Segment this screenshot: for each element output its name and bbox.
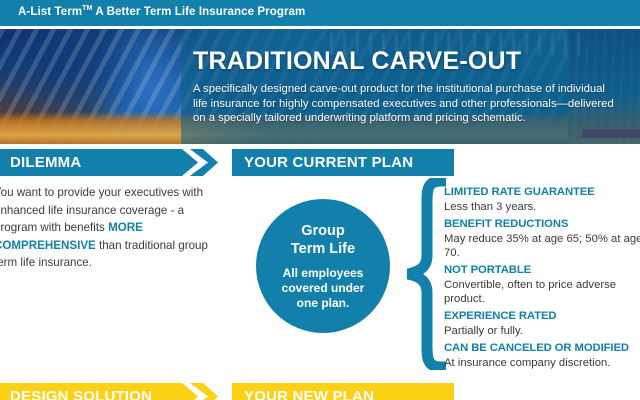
feature-description: May reduce 35% at age 65; 50% at age 70. [444,232,640,261]
group-term-life-circle: Group Term Life All employees covered un… [256,199,390,333]
list-item: BENEFIT REDUCTIONS May reduce 35% at age… [444,217,640,261]
brochure-page: A-List TermTM A Better Term Life Insuran… [0,0,640,400]
brand-bar-text: A-List TermTM A Better Term Life Insuran… [18,5,305,18]
circle-subtitle-line2: covered under [282,281,365,296]
feature-heading: CAN BE CANCELED OR MODIFIED [444,341,640,356]
section-banner-design-solution-label: DESIGN SOLUTION [0,388,152,400]
dilemma-text-before: You want to provide your executives with… [0,186,203,234]
circle-title-line2: Term Life [291,240,355,258]
feature-description: Partially or fully. [444,324,640,339]
brand-title: A-List Term [18,6,82,18]
hero-subtitle: A specifically designed carve-out produc… [193,82,618,126]
section-banner-current-plan-label: YOUR CURRENT PLAN [232,154,413,171]
feature-description: At insurance company discretion. [444,356,640,371]
feature-description: Less than 3 years. [444,200,640,215]
feature-heading: LIMITED RATE GUARANTEE [444,185,640,200]
dilemma-body-text: You want to provide your executives with… [0,184,209,272]
brand-bar: A-List TermTM A Better Term Life Insuran… [0,0,640,26]
list-item: NOT PORTABLE Convertible, often to price… [444,263,640,307]
feature-description: Convertible, often to price adverse prod… [444,278,640,307]
circle-subtitle: All employees covered under one plan. [282,266,365,311]
list-item: LIMITED RATE GUARANTEE Less than 3 years… [444,185,640,215]
section-banner-current-plan: YOUR CURRENT PLAN [232,149,454,176]
section-banner-new-plan: YOUR NEW PLAN [232,383,454,400]
chevron-arrow-icon-yellow [160,383,230,400]
circle-subtitle-line1: All employees [282,266,365,281]
circle-title: Group Term Life [291,222,355,258]
feature-heading: BENEFIT REDUCTIONS [444,217,640,232]
current-plan-feature-list: LIMITED RATE GUARANTEE Less than 3 years… [444,185,640,372]
chevron-arrow-icon-blue [160,149,230,176]
circle-title-line1: Group [291,222,355,240]
section-banner-design-solution: DESIGN SOLUTION [0,383,180,400]
curly-brace-icon [400,178,446,370]
section-banner-dilemma: DILEMMA [0,149,180,176]
section-banner-new-plan-label: YOUR NEW PLAN [232,388,374,400]
section-banner-dilemma-label: DILEMMA [0,154,81,171]
brand-tagline: A Better Term Life Insurance Program [95,6,305,18]
feature-heading: EXPERIENCE RATED [444,309,640,324]
hero-banner: TRADITIONAL CARVE-OUT A specifically des… [0,29,640,144]
list-item: EXPERIENCE RATED Partially or fully. [444,309,640,339]
hero-title: TRADITIONAL CARVE-OUT [193,47,521,76]
circle-subtitle-line3: one plan. [282,296,365,311]
trademark-symbol: TM [82,5,92,12]
feature-heading: NOT PORTABLE [444,263,640,278]
list-item: CAN BE CANCELED OR MODIFIED At insurance… [444,341,640,371]
